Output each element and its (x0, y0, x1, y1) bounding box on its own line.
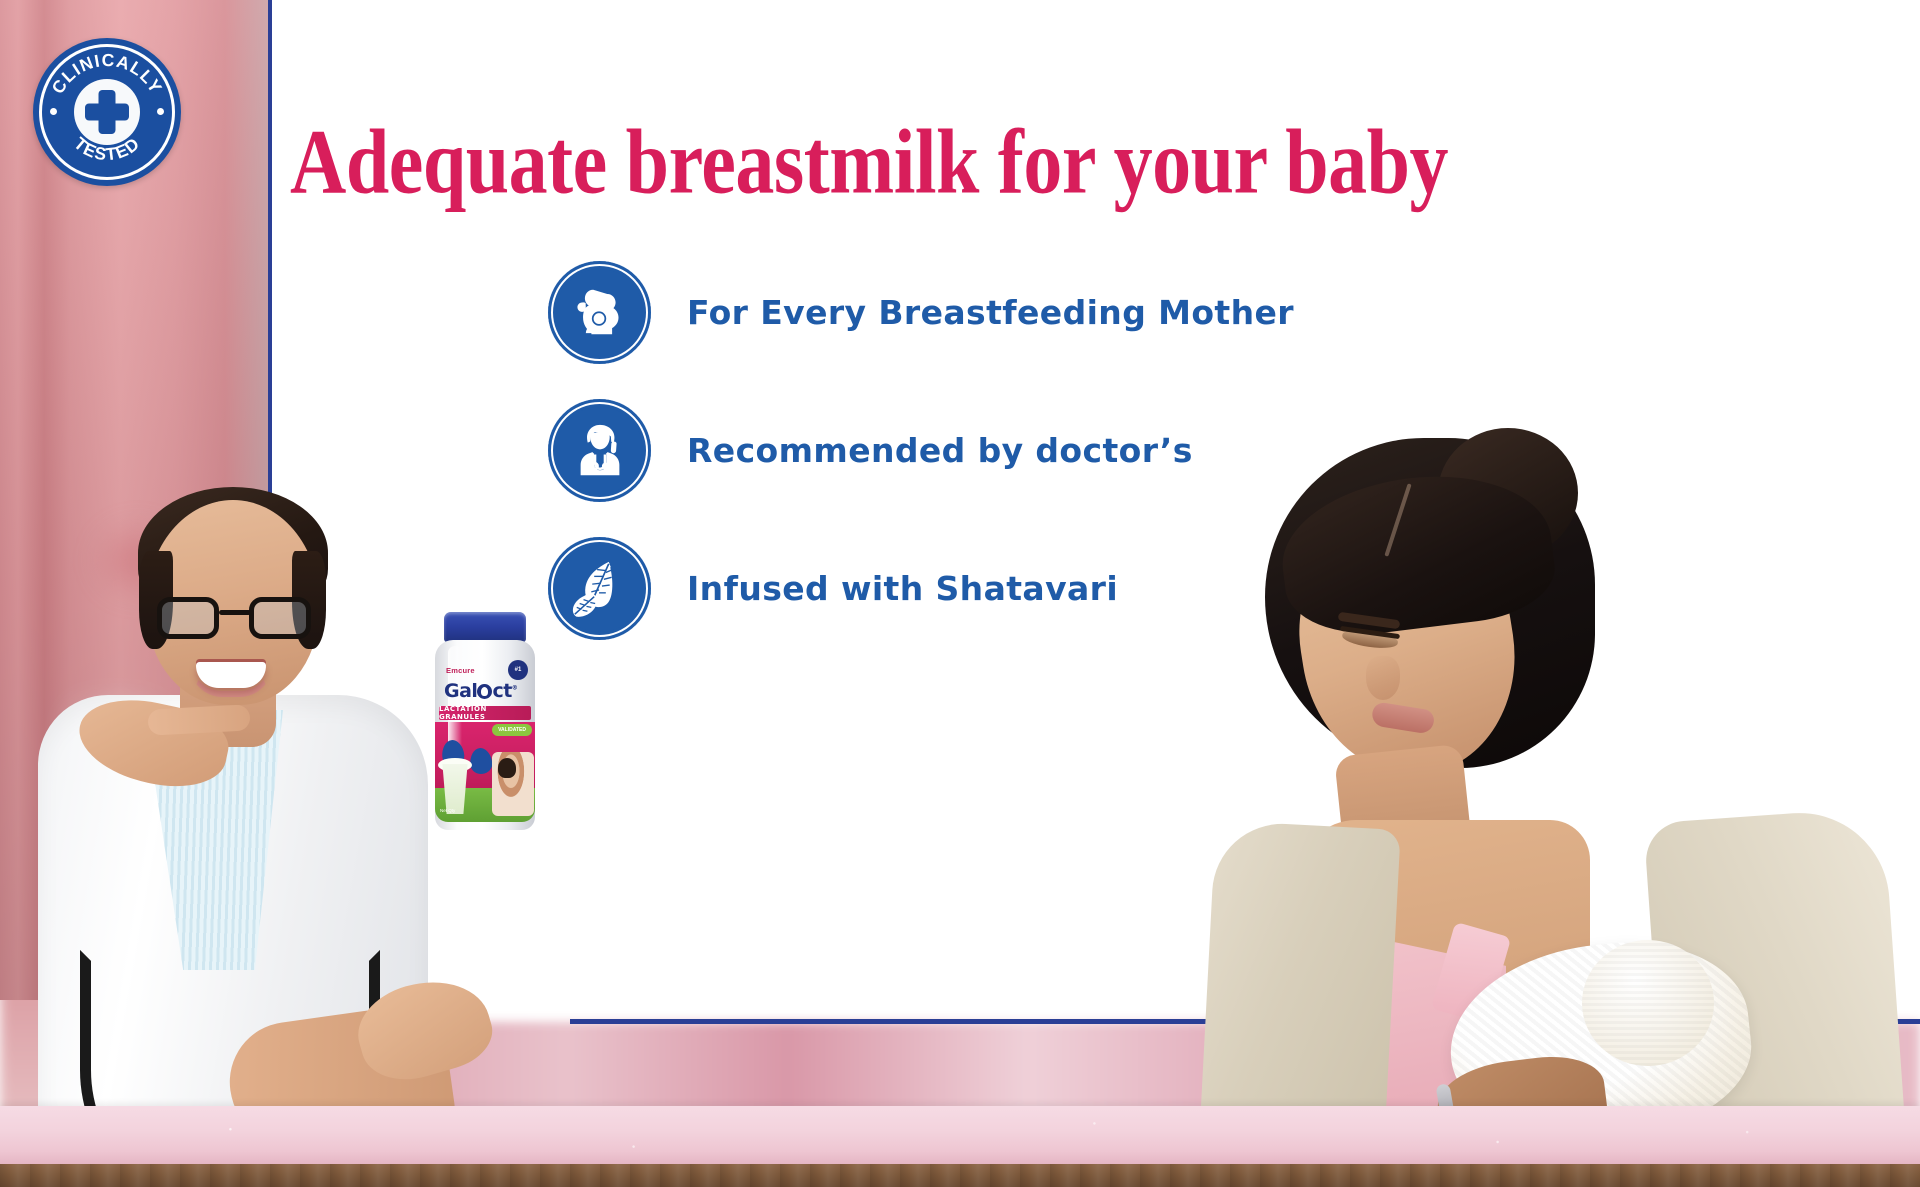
female-doctor-icon (548, 399, 651, 502)
feature-item-breastfeeding[interactable]: For Every Breastfeeding Mother (548, 243, 1448, 381)
feature-label-shatavari: Infused with Shatavari (687, 569, 1118, 608)
feature-label-doctor: Recommended by doctor’s (687, 431, 1193, 470)
wood-edge-strip (0, 1164, 1920, 1187)
page-title: Adequate breastmilk for your baby (290, 116, 1890, 208)
counter-surface (0, 1106, 1920, 1164)
clinically-tested-badge: CLINICALLY TESTED (33, 38, 181, 186)
jar-trademark: ® (512, 685, 518, 692)
jar-brand-name: Emcure (446, 666, 496, 675)
doctor-eyeglasses (157, 595, 311, 641)
jar-product-name: Galct® (444, 682, 526, 701)
badge-dot-left (50, 108, 57, 115)
jar-mother-baby-image (492, 752, 534, 816)
doctor-smile (196, 662, 266, 688)
jar-footer-note: Net Qty (440, 808, 528, 813)
badge-dot-right (157, 108, 164, 115)
mother-and-baby-photo (1190, 420, 1920, 1120)
medical-cross-icon-bar (85, 104, 129, 121)
jar-claim-pill: VALIDATED (492, 724, 532, 736)
doctor-photo (20, 455, 450, 1120)
eyeglass-bridge (219, 610, 251, 615)
badge-center-circle (74, 79, 140, 145)
feature-label-breastfeeding: For Every Breastfeeding Mother (687, 293, 1294, 332)
eyeglass-lens-right (249, 597, 311, 639)
jar-rank-seal: #1 (508, 660, 528, 680)
jar-cap (444, 612, 526, 642)
counter-texture (0, 1106, 1920, 1164)
mother-cardigan-left (1200, 820, 1400, 1129)
leaf-icon (548, 537, 651, 640)
baby-head-wrap (1582, 940, 1714, 1066)
jar-logo-mark (477, 684, 492, 699)
product-jar[interactable]: Emcure #1 Galct® LACTATION GRANULES VALI… (430, 612, 540, 830)
ad-creative-canvas: CLINICALLY TESTED Adequate breastmilk fo… (0, 0, 1920, 1187)
doctor-pointing-finger (147, 704, 250, 735)
eyeglass-lens-left (157, 597, 219, 639)
mother-nose (1366, 656, 1400, 700)
breastfeeding-mother-icon (548, 261, 651, 364)
jar-subtitle: LACTATION GRANULES (439, 706, 531, 720)
